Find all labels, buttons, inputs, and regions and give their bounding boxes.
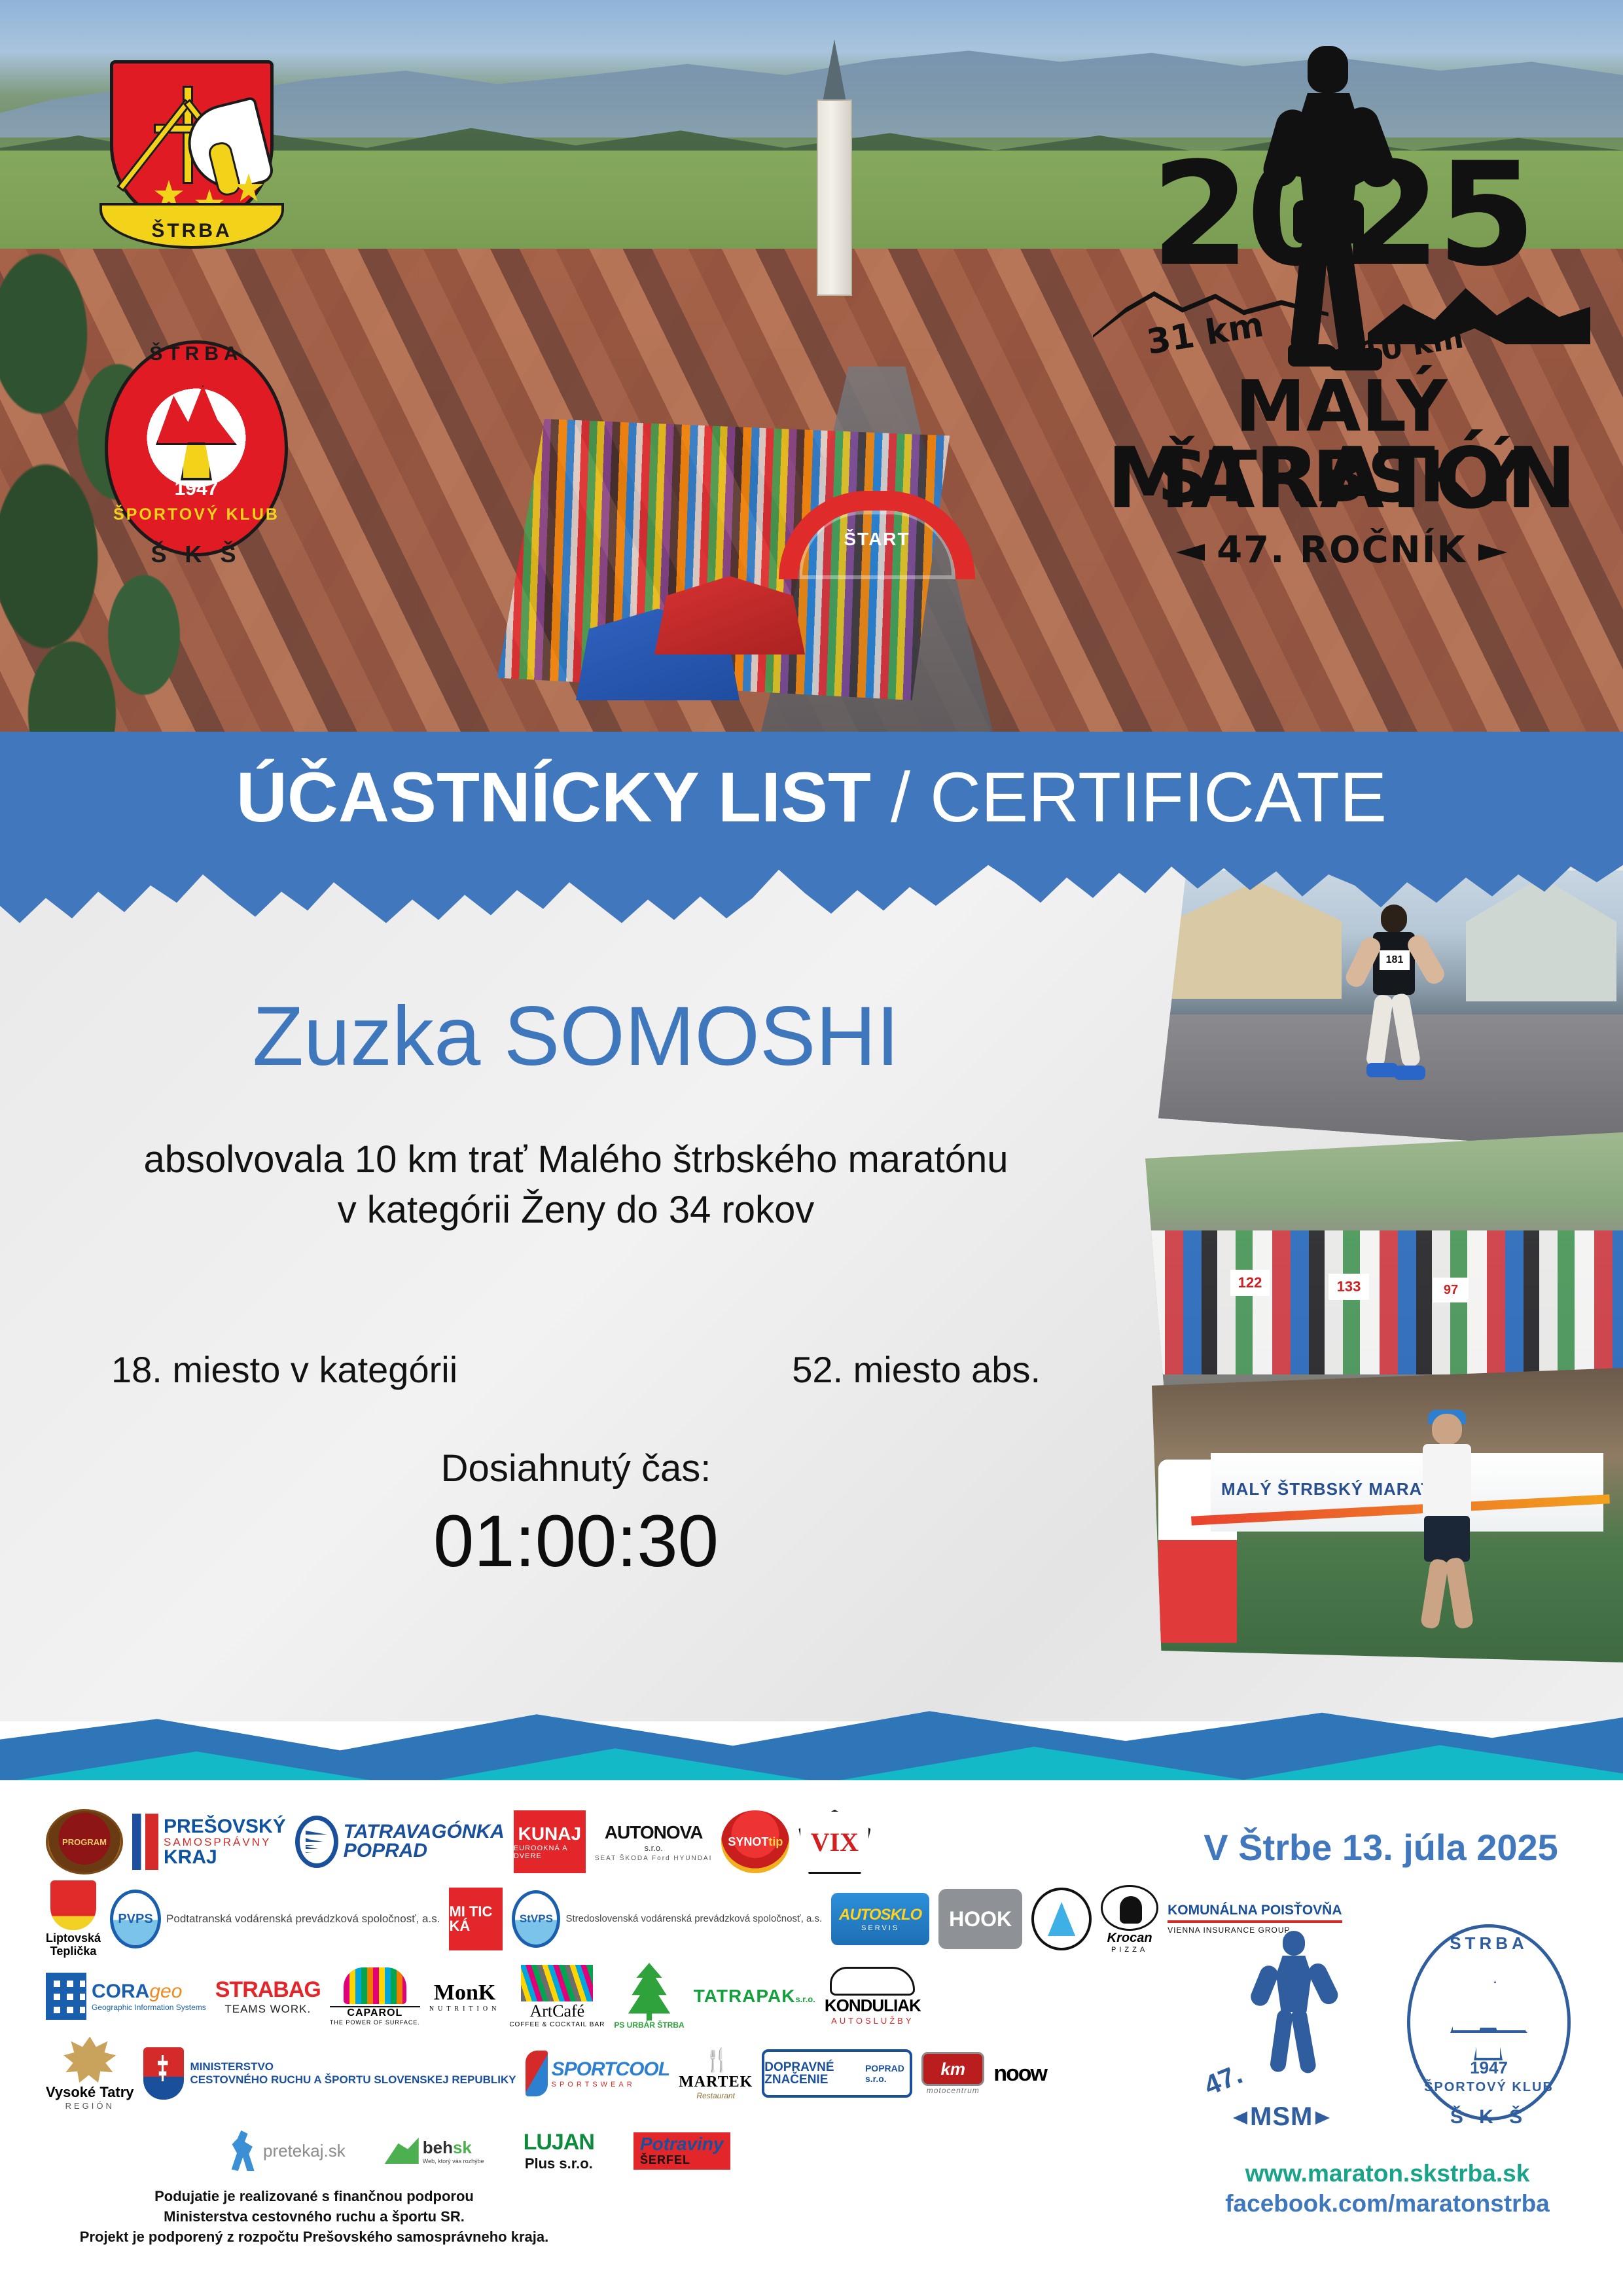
- corageo-grid-icon: [46, 1973, 86, 2020]
- event-year: 2025: [1073, 144, 1610, 287]
- club-logo-club-text: ŠPORTOVÝ KLUB: [105, 505, 288, 524]
- runner-leg-left: [1269, 2009, 1293, 2073]
- sponsor-sublabel: motocentrum: [921, 2086, 984, 2095]
- sponsor-label: MARTEK: [679, 2073, 753, 2091]
- sponsor-row-4: Vysoké TatryREGIÓN MINISTERSTVOCESTOVNÉH…: [46, 2038, 1158, 2109]
- sponsor-label: KONDULIAK: [825, 1996, 921, 2015]
- sponsor-beh-sk: behskWeb, ktorý vás rozhýbe: [385, 2115, 484, 2186]
- church-tower: [806, 39, 863, 301]
- achievement-line-2: v kategórii Ženy do 34 rokov: [0, 1185, 1152, 1236]
- elephant-icon: [344, 1967, 406, 2004]
- sponsor-krocan-pizza: KrocanPIZZA: [1101, 1884, 1158, 1954]
- sponsor-label: Liptovská: [46, 1931, 101, 1945]
- msm-abbrev: MSM: [1250, 2102, 1313, 2131]
- msm-edition-number: 47.: [1200, 2058, 1247, 2102]
- sponsor-km-motocentrum: kmmotocentrum: [921, 2038, 984, 2109]
- runner-head: [1432, 1414, 1462, 1445]
- funding-note-line-2: Ministerstva cestovného ruchu a športu S…: [79, 2206, 550, 2227]
- sponsor-label2: tip: [768, 1835, 783, 1849]
- pd-strba-icon: [1031, 1888, 1092, 1950]
- sponsor-sublabel: s.r.o.: [795, 1994, 815, 2004]
- sponsor-label: PREŠOVSKÝ: [164, 1816, 286, 1837]
- sponsor-label: Potraviny: [640, 2135, 724, 2153]
- sponsor-label: MINISTERSTVO: [190, 2060, 274, 2073]
- sponsor-row-2: LiptovskáTeplička PVPSPodtatranská vodár…: [46, 1884, 1158, 1954]
- certificate-title-banner: ÚČASTNÍCKY LIST / CERTIFICATE: [0, 732, 1623, 863]
- arrow-right-icon: [1315, 2111, 1330, 2125]
- sponsor-label: CAPAROL: [330, 2006, 420, 2019]
- sponsor-synot-tip: SYNOTtip: [721, 1806, 789, 1877]
- club-logo-abbrev: Š K Š: [1400, 2106, 1577, 2128]
- church-body: [817, 99, 852, 296]
- runner-bib-number: 181: [1380, 950, 1410, 970]
- sponsor-presovsky-kraj: PREŠOVSKÝSAMOSPRÁVNYKRAJ: [132, 1806, 286, 1877]
- club-logo-year: 1947: [105, 478, 288, 500]
- runner-shoe-right: [1394, 1066, 1425, 1080]
- sponsor-sublabel: SPORTSWEAR: [552, 2081, 669, 2089]
- runner-arm-right: [1306, 1960, 1341, 2007]
- crest-municipality-label: ŠTRBA: [151, 220, 232, 242]
- sponsor-label: SPORTCOOL: [552, 2058, 669, 2080]
- sponsor-label: AUTOSKLO: [839, 1906, 921, 1924]
- time-value: 01:00:30: [0, 1505, 1152, 1578]
- sponsor-sportcool: SPORTCOOLSPORTSWEAR: [526, 2038, 669, 2109]
- sponsor-label2: Teplička: [50, 1945, 97, 1958]
- sponsor-sublabel: Plus s.r.o.: [524, 2155, 594, 2172]
- sponsor-sublabel: COFFEE & COCKTAIL BAR: [509, 2021, 605, 2028]
- runner-bib-number: 133: [1329, 1274, 1369, 1300]
- sponsor-tatravagonka-poprad: TATRAVAGÓNKAPOPRAD: [295, 1806, 505, 1877]
- sponsor-sublabel: Geographic Information Systems: [92, 2003, 206, 2012]
- liptovska-crest-icon: [50, 1880, 96, 1930]
- club-logo-club-text: ŠPORTOVÝ KLUB: [1400, 2080, 1577, 2095]
- runner-shorts: [1424, 1516, 1470, 1562]
- sponsor-program-trencin: PROGRAM: [46, 1806, 123, 1877]
- sponsor-label: CORA: [92, 1981, 149, 2002]
- runner-torso: [1423, 1444, 1471, 1517]
- runner-head: [1308, 46, 1348, 93]
- arrow-left-icon: [1233, 2111, 1247, 2125]
- sponsor-label: HOOK: [938, 1889, 1022, 1949]
- sponsor-label: LUJAN: [524, 2130, 594, 2155]
- sponsor-noow: noow: [993, 2038, 1046, 2109]
- sponsor-label2: sk: [453, 2138, 472, 2157]
- achievement-line-1: absolvovala 10 km trať Malého štrbského …: [0, 1135, 1152, 1185]
- event-edition-label: 47. ROČNÍK: [1217, 529, 1467, 571]
- facebook-link[interactable]: facebook.com/maratonstrba: [1165, 2190, 1610, 2217]
- time-label: Dosiahnutý čas:: [0, 1446, 1152, 1490]
- sponsor-label: AUTONOVA: [605, 1822, 703, 1842]
- sponsor-vix: VIX: [798, 1806, 870, 1877]
- sponsor-sublabel: Stredoslovenská vodárenská prevádzková s…: [565, 1913, 822, 1926]
- photo-collage: 181 122 133 97: [1106, 870, 1623, 1721]
- msm-logo: 47. MSM: [1204, 1924, 1368, 2147]
- runner-leg-left: [1365, 994, 1393, 1068]
- sponsor-label: km: [921, 2052, 984, 2086]
- web-links: www.maraton.skstrba.sk facebook.com/mara…: [1165, 2160, 1610, 2217]
- runner-leg-right: [1290, 2007, 1317, 2075]
- runner-head: [1283, 1931, 1305, 1956]
- sponsor-corageo: CORAgeoGeographic Information Systems: [46, 1961, 206, 2032]
- sponsor-liptovska-teplicka: LiptovskáTeplička: [46, 1884, 101, 1954]
- website-link[interactable]: www.maraton.skstrba.sk: [1165, 2160, 1610, 2187]
- page-title: ÚČASTNÍCKY LIST / CERTIFICATE: [236, 762, 1387, 833]
- funding-note-line-1: Podujatie je realizované s finančnou pod…: [79, 2186, 550, 2206]
- sponsor-kunaj: KUNAJEUROOKNÁ A DVERE: [514, 1806, 586, 1877]
- sponsor-label: VIX: [798, 1810, 870, 1874]
- runner-torso: [1276, 1956, 1311, 2012]
- sponsor-sublabel: THE POWER OF SURFACE.: [330, 2019, 420, 2026]
- club-logo-top-text: ŠTRBA: [105, 343, 288, 365]
- category-place: 18. miesto v kategórii: [111, 1348, 457, 1391]
- photo-house: [1466, 877, 1616, 1001]
- finish-time-block: Dosiahnutý čas: 01:00:30: [0, 1446, 1152, 1578]
- photo-male-finisher: [1400, 1414, 1492, 1636]
- sponsor-monk-nutrition: MonKNUTRITION: [429, 1961, 500, 2032]
- photo-female-finisher: 181: [1158, 870, 1623, 1152]
- sponsor-stvps: StVPSStredoslovenská vodárenská prevádzk…: [512, 1884, 822, 1954]
- runner-leg-right: [1445, 1556, 1474, 1629]
- photo-runner: 181: [1355, 905, 1433, 1101]
- sponsor-label: KUNAJ: [518, 1823, 581, 1844]
- sponsor-pvps: PVPSPodtatranská vodárenská prevádzková …: [110, 1884, 440, 1954]
- sponsor-konduliak: KONDULIAKAUTOSLUŽBY: [825, 1961, 921, 2032]
- sponsor-label2: KRAJ: [164, 1846, 217, 1868]
- club-logo-top-text: ŠTRBA: [1400, 1933, 1577, 1954]
- msm-runner-icon: [1254, 1931, 1332, 2094]
- sponsor-sublabel: REGIÓN: [46, 2101, 134, 2111]
- tatravagonka-icon: [295, 1816, 338, 1868]
- sponsor-sublabel: s.r.o.: [595, 1843, 713, 1853]
- achievement-text: absolvovala 10 km trať Malého štrbského …: [0, 1135, 1152, 1235]
- sponsor-hook: HOOK: [938, 1884, 1022, 1954]
- presov-flag-icon: [132, 1814, 158, 1870]
- sponsor-martek-restaurant: 🍴MARTEKRestaurant: [679, 2038, 753, 2109]
- sponsor-ministerstvo: MINISTERSTVOCESTOVNÉHO RUCHU A ŠPORTU SL…: [143, 2038, 516, 2109]
- church-spire: [823, 39, 846, 102]
- sponsor-label: SYNOT: [728, 1835, 768, 1849]
- sponsor-label: Vysoké Tatry: [46, 2084, 134, 2101]
- runner-head: [1381, 905, 1407, 933]
- sponsor-sublabel: NUTRITION: [429, 2005, 500, 2013]
- sponsor-artcafe: ArtCaféCOFFEE & COCKTAIL BAR: [509, 1961, 605, 2032]
- sponsor-label: PROGRAM: [62, 1837, 107, 1847]
- sponsor-caparol: CAPAROLTHE POWER OF SURFACE.: [330, 1961, 420, 2032]
- sponsor-sublabel: Restaurant: [679, 2091, 753, 2100]
- event-name-line2: MARATÓN: [1073, 437, 1610, 521]
- photo-finish-line: [1152, 1368, 1623, 1662]
- photo-pack-runners: [1145, 1230, 1623, 1374]
- date-and-place: V Štrbe 13. júla 2025: [1165, 1826, 1597, 1869]
- sponsor-label: STRABAG: [215, 1977, 321, 2002]
- msm-abbrev-row: MSM: [1233, 2102, 1330, 2132]
- club-logo-year: 1947: [1400, 2058, 1577, 2078]
- funding-note-line-3: Projekt je podporený z rozpočtu Prešovsk…: [79, 2227, 550, 2247]
- sponsor-label: Krocan: [1101, 1931, 1158, 1946]
- sponsor-dopravne-znacenie: DOPRAVNÉ ZNAČENIEPOPRAD s.r.o.: [762, 2038, 912, 2109]
- runner-bib-number: 97: [1433, 1278, 1469, 1302]
- sponsor-pd-strba: [1031, 1884, 1092, 1954]
- title-slovak: ÚČASTNÍCKY LIST: [236, 757, 871, 836]
- sponsor-label: StVPS: [512, 1890, 560, 1948]
- sponsor-sublabel: Podtatranská vodárenská prevádzková spol…: [166, 1912, 440, 1926]
- sks-club-logo-footer: ŠTRBA 1947 ŠPORTOVÝ KLUB Š K Š: [1400, 1918, 1577, 2140]
- sponsor-label2: CESTOVNÉHO RUCHU A ŠPORTU SLOVENSKEJ REP…: [190, 2073, 516, 2086]
- sponsor-brands: SEAT ŠKODA Ford HYUNDAI: [595, 1855, 713, 1862]
- slovak-coat-of-arms-icon: [143, 2047, 184, 2100]
- sponsor-strabag: STRABAGTEAMS WORK.: [215, 1961, 321, 2032]
- runner-shoe-left: [1366, 1063, 1398, 1077]
- strba-municipal-crest: ŠTRBA: [110, 60, 274, 263]
- sponsor-sublabel: ŠERFEL: [640, 2153, 724, 2167]
- funding-note: Podujatie je realizované s finančnou pod…: [79, 2186, 550, 2248]
- sponsor-label2: geo: [149, 1981, 182, 2002]
- sponsor-label: PVPS: [110, 1890, 161, 1948]
- event-edition: 47. ROČNÍK: [1073, 529, 1610, 571]
- artcafe-swatch-icon: [521, 1965, 593, 2001]
- participant-name: Zuzka SOMOSHI: [0, 995, 1152, 1079]
- sportcool-flame-icon: [526, 2051, 548, 2096]
- runner-leg-left: [1420, 1558, 1449, 1629]
- sponsor-ps-urbar-strba: PS URBÁR ŠTRBA: [614, 1961, 684, 2032]
- sponsor-miticka: MI TIC KÁ: [449, 1884, 503, 1954]
- sponsor-label: pretekaj.sk: [263, 2141, 346, 2161]
- sponsor-sublabel: Web, ktorý vás rozhýbe: [423, 2158, 484, 2164]
- sponsor-label: MI TIC KÁ: [449, 1888, 503, 1950]
- crest-ribbon: ŠTRBA: [99, 203, 284, 249]
- certificate-text-block: Zuzka SOMOSHI absolvovala 10 km trať Mal…: [0, 995, 1152, 1235]
- car-icon: [830, 1967, 915, 1996]
- sponsor-label: TATRAPAK: [694, 1986, 796, 2006]
- runner-leg-right: [1390, 992, 1421, 1067]
- sponsor-grid: PROGRAM PREŠOVSKÝSAMOSPRÁVNYKRAJ TATRAVA…: [46, 1806, 1158, 2199]
- sponsor-row-5: pretekaj.sk behskWeb, ktorý vás rozhýbe …: [46, 2115, 1158, 2186]
- title-english: CERTIFICATE: [930, 757, 1387, 836]
- arrow-right-icon: [1478, 544, 1507, 561]
- sks-club-logo: ŠTRBA 1947 ŠPORTOVÝ KLUB Š K Š: [105, 314, 288, 589]
- sponsor-label: ArtCafé: [509, 2001, 605, 2021]
- sponsor-label: PS URBÁR ŠTRBA: [614, 2020, 684, 2030]
- sponsor-label: noow: [993, 2061, 1046, 2086]
- sponsor-sublabel: SERVIS: [861, 1924, 899, 1932]
- sponsor-label: DOPRAVNÉ ZNAČENIE: [764, 2061, 861, 2086]
- sponsor-sublabel: TEAMS WORK.: [215, 2003, 321, 2016]
- sponsor-sublabel: PIZZA: [1101, 1946, 1158, 1954]
- club-logo-abbrev: Š K Š: [105, 541, 288, 568]
- crest-shield: [110, 60, 274, 227]
- sponsor-potraviny-serfel: PotravinyŠERFEL: [633, 2115, 730, 2186]
- sponsor-label: MonK: [434, 1981, 495, 2005]
- sponsor-autosklo-servis: AUTOSKLOSERVIS: [831, 1884, 929, 1954]
- sponsor-tatrapak: TATRAPAKs.r.o.: [694, 1961, 815, 2032]
- sponsor-vysoke-tatry: Vysoké TatryREGIÓN: [46, 2038, 134, 2109]
- runner-icon: [229, 2130, 259, 2171]
- sun-icon: [63, 2037, 116, 2084]
- photo-runner-pack: 122 133 97: [1145, 1132, 1623, 1394]
- sponsor-row-3: CORAgeoGeographic Information Systems ST…: [46, 1961, 1158, 2032]
- placement-row: 18. miesto v kategórii 52. miesto abs.: [0, 1348, 1152, 1391]
- turkey-icon: [1101, 1885, 1158, 1931]
- sponsor-autonova: AUTONOVA s.r.o. SEAT ŠKODA Ford HYUNDAI: [595, 1806, 713, 1877]
- photo-house: [1171, 881, 1342, 999]
- sponsor-label2: POPRAD: [344, 1840, 427, 1861]
- sponsor-sublabel: AUTOSLUŽBY: [825, 2016, 921, 2026]
- runner-arm-left: [1248, 1963, 1281, 2009]
- tree-icon: [626, 1963, 672, 2020]
- sponsor-lujan-plus: LUJANPlus s.r.o.: [524, 2115, 594, 2186]
- event-logo: 2025 31 km 10 km MALÝ ŠTRBSKÝ MARATÓN 47…: [1073, 39, 1610, 602]
- arrow-left-icon: [1176, 544, 1205, 561]
- sponsor-label: KOMUNÁLNA POISŤOVŇA: [1168, 1903, 1342, 1918]
- title-separator: /: [871, 757, 930, 836]
- sponsor-label: beh: [423, 2138, 453, 2157]
- sponsor-label2: POPRAD s.r.o.: [865, 2063, 910, 2084]
- sponsor-pretekaj-sk: pretekaj.sk: [229, 2115, 346, 2186]
- absolute-place: 52. miesto abs.: [792, 1348, 1041, 1391]
- sponsor-sublabel: EUROOKNÁ A DVERE: [514, 1844, 586, 1860]
- sponsor-row-1: PROGRAM PREŠOVSKÝSAMOSPRÁVNYKRAJ TATRAVA…: [46, 1806, 1158, 1877]
- cutlery-icon: 🍴: [679, 2047, 753, 2073]
- runner-bib-number: 122: [1230, 1270, 1270, 1296]
- beh-swoosh-icon: [385, 2138, 419, 2164]
- crest-diagonal-left: [116, 99, 192, 192]
